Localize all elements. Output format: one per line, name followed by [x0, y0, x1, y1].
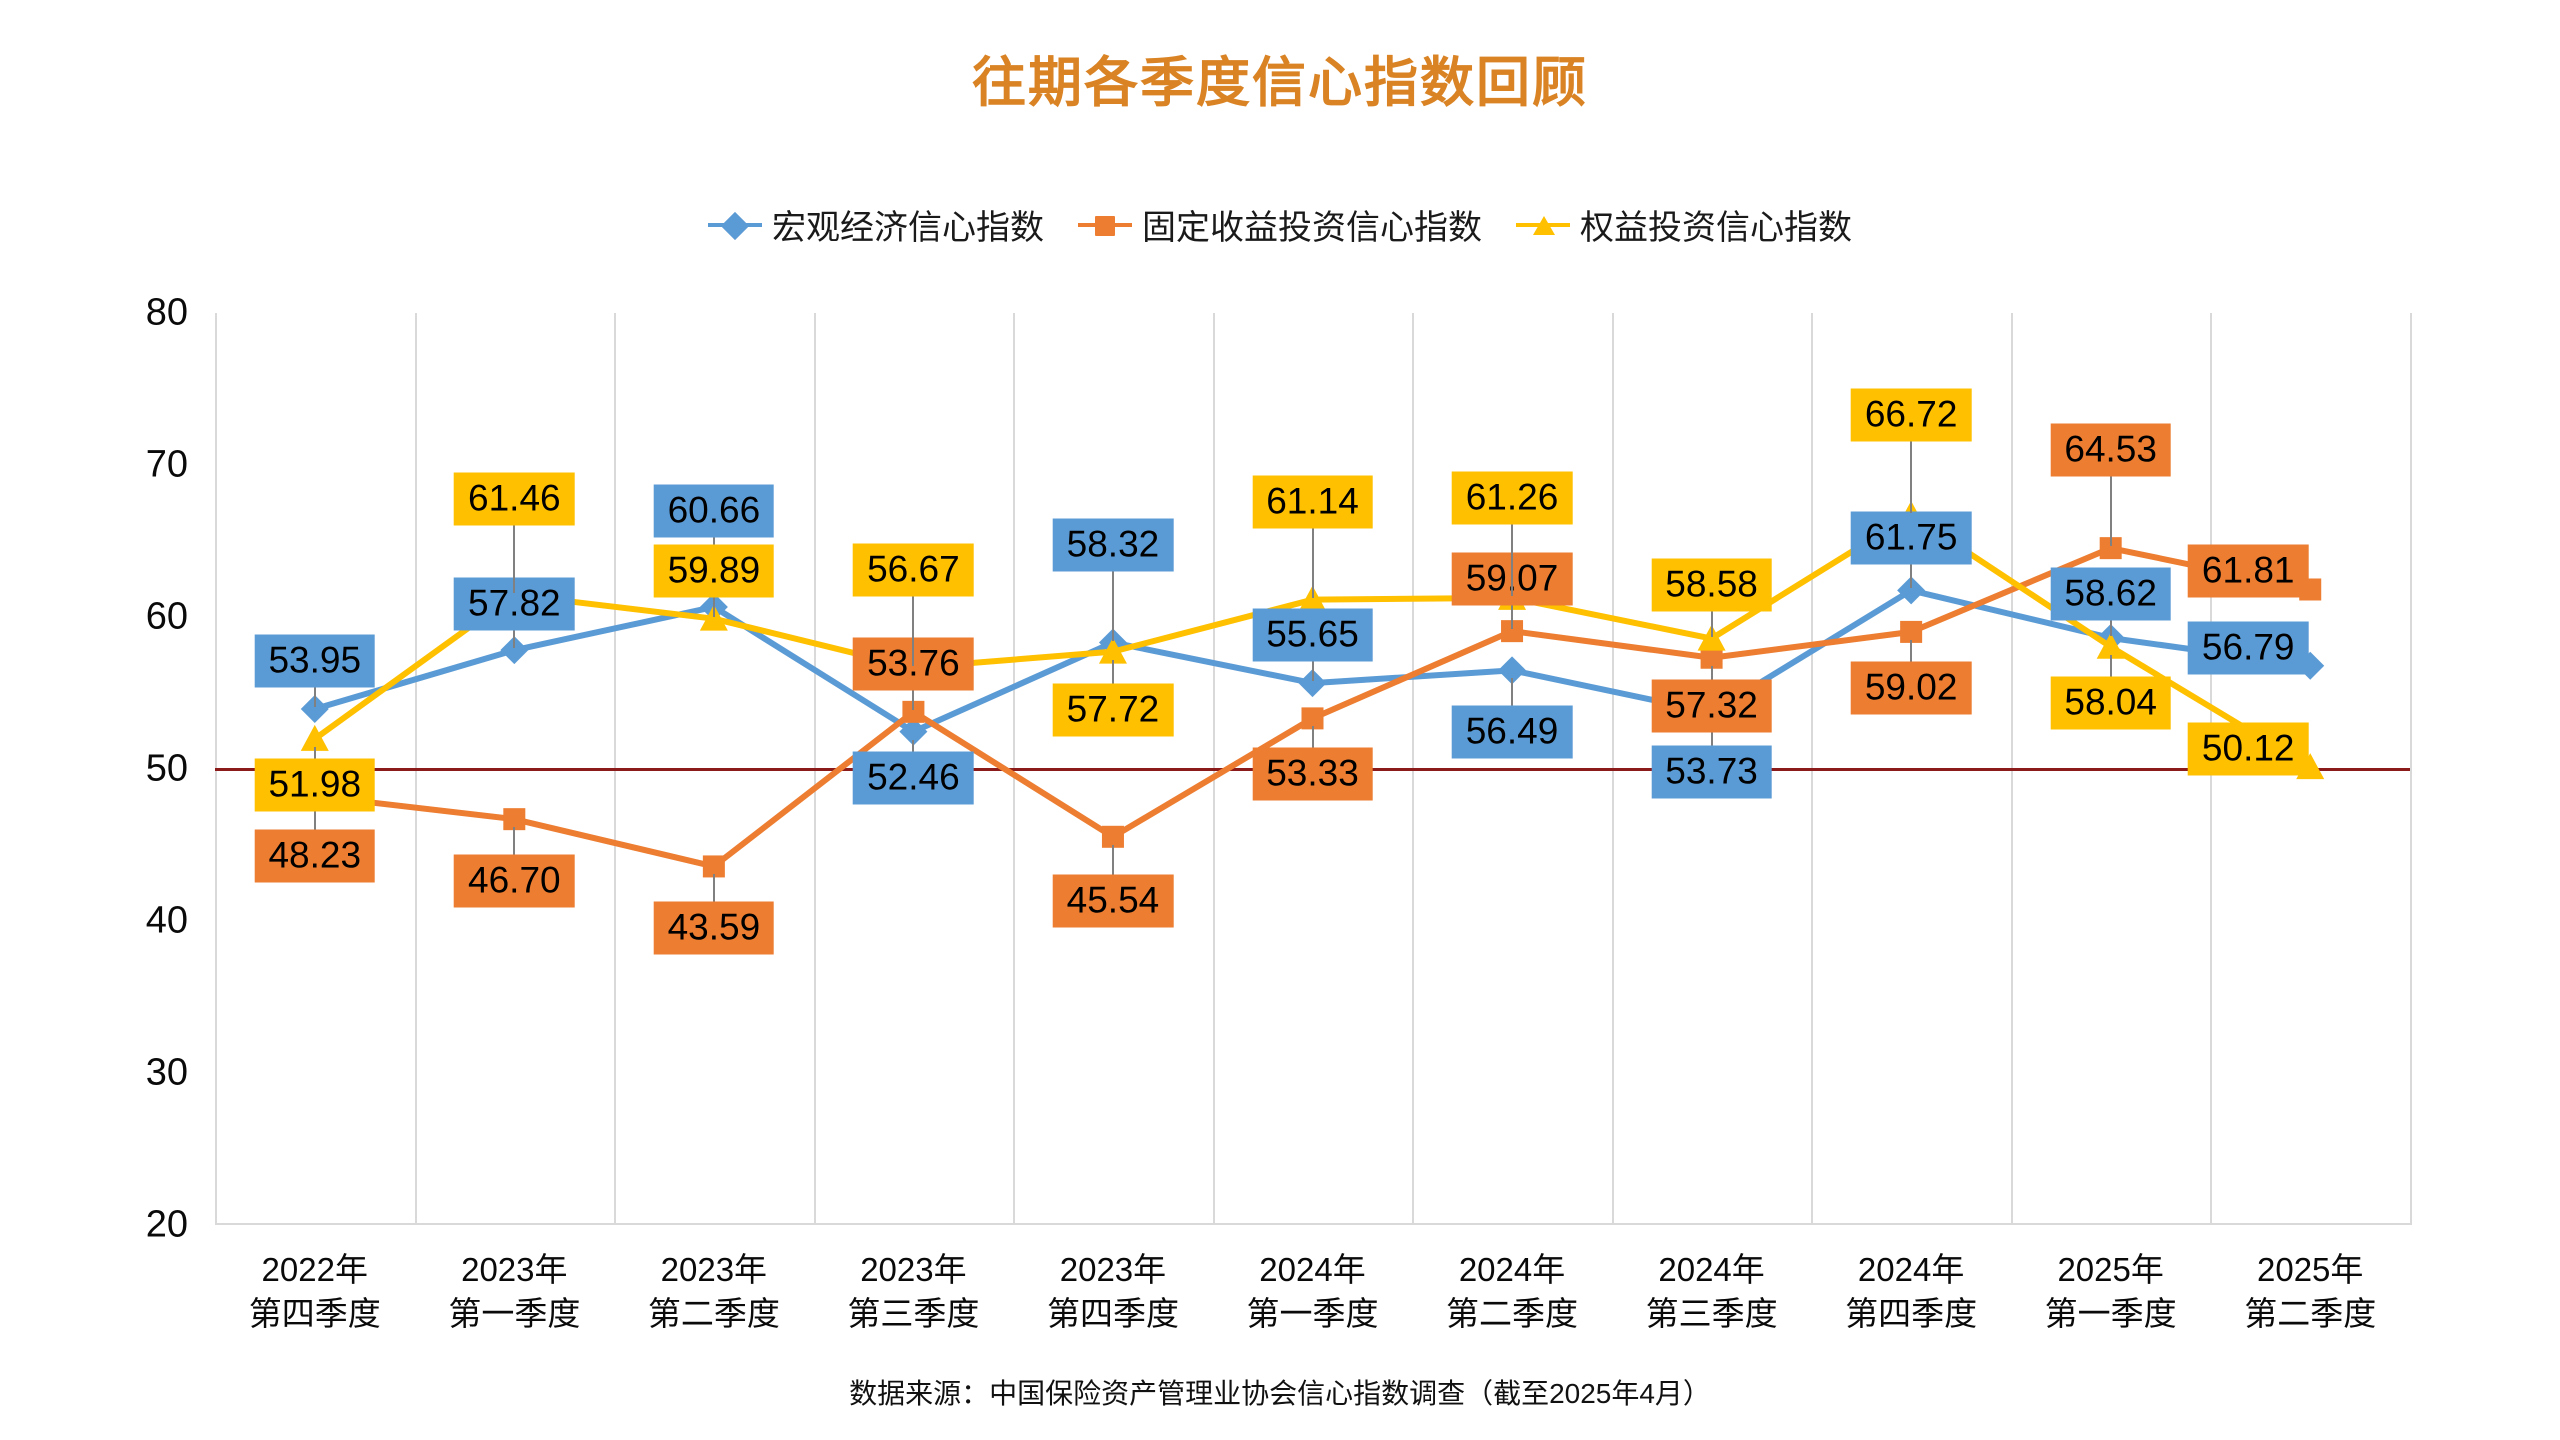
data-label: 64.53 — [2050, 424, 2171, 477]
x-axis-tick-line: 2025年 — [2195, 1248, 2425, 1292]
data-label: 57.72 — [1053, 683, 1174, 736]
x-axis-tick-line: 第三季度 — [1597, 1292, 1827, 1336]
x-axis-tick-line: 2023年 — [399, 1248, 629, 1292]
legend-item-1[interactable]: 宏观经济信心指数 — [708, 200, 1044, 249]
x-axis-tick-line: 2024年 — [1397, 1248, 1627, 1292]
data-label: 48.23 — [254, 829, 375, 882]
data-label: 61.81 — [2188, 545, 2309, 598]
x-axis-tick-line: 2024年 — [1198, 1248, 1428, 1292]
y-axis-tick: 50 — [68, 748, 188, 791]
x-axis-tick-line: 第一季度 — [1198, 1292, 1428, 1336]
x-axis-tick-line: 第三季度 — [798, 1292, 1028, 1336]
data-label: 60.66 — [654, 484, 775, 537]
label-leader-line — [1312, 524, 1314, 598]
x-axis-tick-line: 第二季度 — [599, 1292, 829, 1336]
data-label: 66.72 — [1851, 388, 1972, 441]
legend-item-label: 宏观经济信心指数 — [772, 200, 1044, 249]
label-leader-line — [1112, 567, 1114, 641]
legend-item-label: 权益投资信心指数 — [1580, 200, 1852, 249]
triangle-marker-icon — [1516, 212, 1570, 238]
data-label: 61.75 — [1851, 512, 1972, 565]
data-label: 61.46 — [454, 472, 575, 525]
x-axis-tick-line: 2023年 — [798, 1248, 1028, 1292]
x-axis-tick-line: 第四季度 — [200, 1292, 430, 1336]
data-label: 52.46 — [853, 751, 974, 804]
legend-item-3[interactable]: 权益投资信心指数 — [1516, 200, 1852, 249]
x-axis-tick: 2025年第二季度 — [2195, 1248, 2425, 1336]
legend-item-2[interactable]: 固定收益投资信心指数 — [1078, 200, 1482, 249]
x-axis-tick: 2022年第四季度 — [200, 1248, 430, 1336]
page-title: 往期各季度信心指数回顾 — [0, 38, 2560, 117]
x-axis-tick-line: 2022年 — [200, 1248, 430, 1292]
x-axis-tick: 2024年第一季度 — [1198, 1248, 1428, 1336]
y-axis-tick: 30 — [68, 1052, 188, 1095]
x-axis-tick-line: 2024年 — [1597, 1248, 1827, 1292]
x-axis-tick-line: 2023年 — [599, 1248, 829, 1292]
y-axis-tick: 60 — [68, 596, 188, 639]
label-leader-line — [1910, 437, 1912, 513]
x-axis-tick: 2023年第四季度 — [998, 1248, 1228, 1336]
data-label: 43.59 — [654, 902, 775, 955]
data-label: 53.73 — [1651, 746, 1772, 799]
x-axis-tick-line: 第一季度 — [399, 1292, 629, 1336]
data-label: 51.98 — [254, 758, 375, 811]
x-axis-tick: 2025年第一季度 — [1996, 1248, 2226, 1336]
x-axis-tick-line: 第二季度 — [1397, 1292, 1627, 1336]
data-label: 50.12 — [2188, 723, 2309, 776]
data-label: 56.67 — [853, 543, 974, 596]
label-leader-line — [513, 521, 515, 593]
data-label: 55.65 — [1252, 609, 1373, 662]
x-axis-tick-line: 2023年 — [998, 1248, 1228, 1292]
x-axis-tick-line: 2024年 — [1796, 1248, 2026, 1292]
x-axis-tick-line: 第一季度 — [1996, 1292, 2226, 1336]
x-axis-tick-line: 第四季度 — [1796, 1292, 2026, 1336]
data-label: 46.70 — [454, 855, 575, 908]
gridline — [2410, 313, 2412, 1225]
data-label: 58.62 — [2050, 567, 2171, 620]
y-axis-tick: 80 — [68, 292, 188, 335]
x-axis-tick: 2024年第四季度 — [1796, 1248, 2026, 1336]
y-axis-tick: 20 — [68, 1204, 188, 1247]
data-label: 61.26 — [1452, 471, 1573, 524]
diamond-marker-icon — [708, 212, 762, 238]
x-axis-tick: 2024年第三季度 — [1597, 1248, 1827, 1336]
chart-legend: 宏观经济信心指数固定收益投资信心指数权益投资信心指数 — [0, 200, 2560, 249]
data-label: 45.54 — [1053, 874, 1174, 927]
y-axis-tick: 70 — [68, 444, 188, 487]
data-label: 56.79 — [2188, 621, 2309, 674]
data-label: 57.32 — [1651, 679, 1772, 732]
legend-item-label: 固定收益投资信心指数 — [1142, 200, 1482, 249]
x-axis-tick-line: 2025年 — [1996, 1248, 2226, 1292]
x-axis-tick-line: 第四季度 — [998, 1292, 1228, 1336]
source-note: 数据来源：中国保险资产管理业协会信心指数调查（截至2025年4月） — [0, 1372, 2560, 1412]
data-label: 53.33 — [1252, 748, 1373, 801]
data-label: 58.58 — [1651, 558, 1772, 611]
data-label: 56.49 — [1452, 706, 1573, 759]
label-leader-line — [1511, 520, 1513, 596]
data-label: 53.95 — [254, 634, 375, 687]
plot-area: 53.9557.8260.6652.4658.3255.6556.4953.73… — [215, 313, 2410, 1225]
x-axis-tick: 2023年第三季度 — [798, 1248, 1028, 1336]
x-axis-tick: 2023年第二季度 — [599, 1248, 829, 1336]
label-leader-line — [1711, 607, 1713, 637]
data-label: 59.02 — [1851, 661, 1972, 714]
x-axis-tick: 2023年第一季度 — [399, 1248, 629, 1336]
data-label: 58.04 — [2050, 676, 2171, 729]
x-axis-tick: 2024年第二季度 — [1397, 1248, 1627, 1336]
label-leader-line — [2110, 472, 2112, 546]
data-label: 58.32 — [1053, 518, 1174, 571]
data-label: 59.89 — [654, 544, 775, 597]
data-label: 61.14 — [1252, 475, 1373, 528]
label-leader-line — [912, 592, 914, 666]
x-axis-tick-line: 第二季度 — [2195, 1292, 2425, 1336]
y-axis-tick: 40 — [68, 900, 188, 943]
chart-container: 往期各季度信心指数回顾 宏观经济信心指数固定收益投资信心指数权益投资信心指数 8… — [0, 0, 2560, 1440]
square-marker-icon — [1078, 212, 1132, 238]
